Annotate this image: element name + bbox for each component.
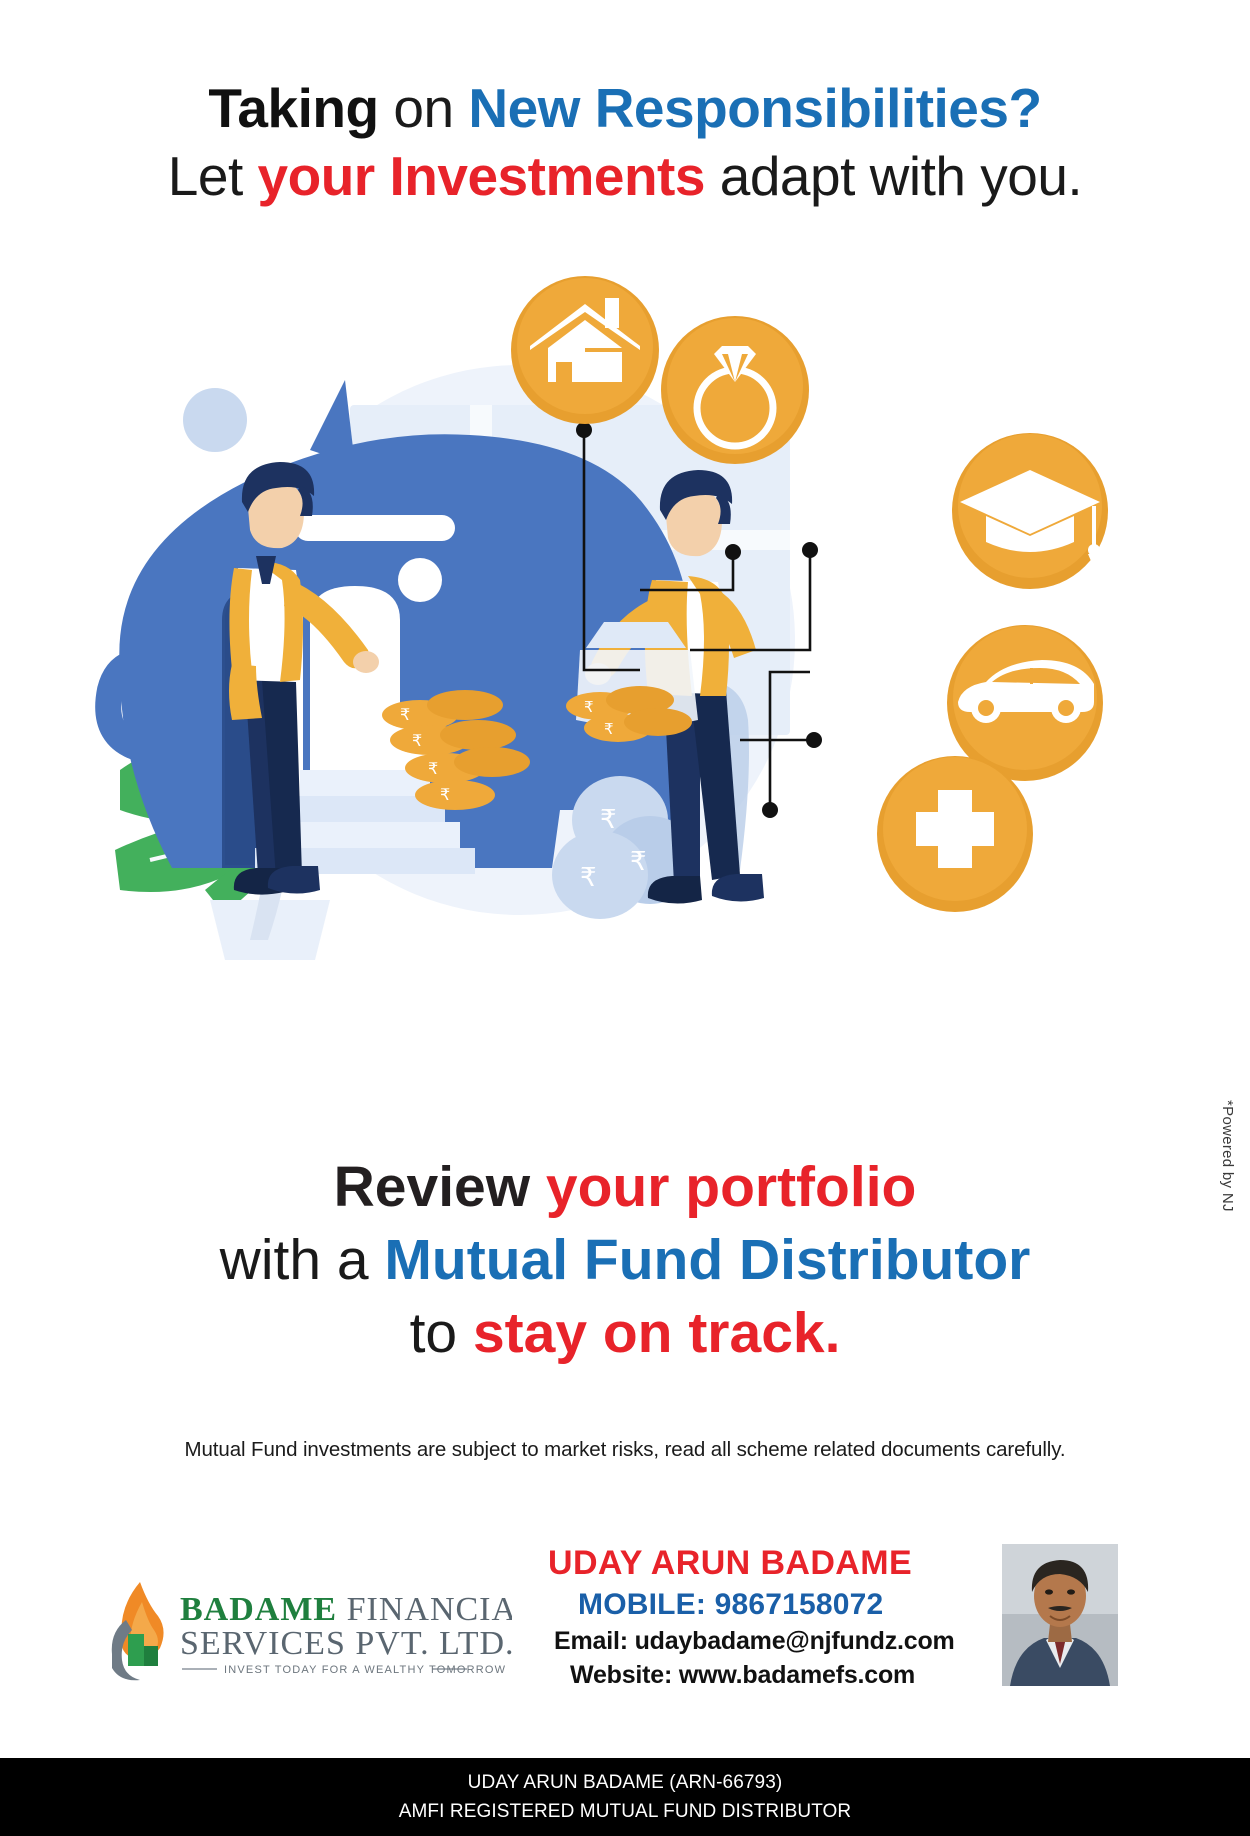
- logo-tagline: INVEST TODAY FOR A WEALTHY TOMORROW: [224, 1664, 506, 1676]
- amfi-arn-line: UDAY ARUN BADAME (ARN-66793): [0, 1769, 1250, 1798]
- subhead-line-2: with a Mutual Fund Distributor: [0, 1228, 1250, 1293]
- logo-word-badame: BADAME: [180, 1591, 337, 1628]
- subhead-l1-highlight: your portfolio: [546, 1155, 916, 1219]
- headline-l1-highlight: New Responsibilities?: [468, 77, 1041, 139]
- advisor-name: UDAY ARUN BADAME: [548, 1544, 978, 1583]
- headline-l1-word-taking: Taking: [208, 77, 378, 139]
- coin-badge-house: [511, 276, 659, 424]
- headline-line-1: Taking on New Responsibilities?: [0, 78, 1250, 140]
- amfi-registration-bar: UDAY ARUN BADAME (ARN-66793) AMFI REGIST…: [0, 1758, 1250, 1836]
- coin-badge-ring: [661, 316, 809, 464]
- headline-l2-suffix: adapt with you.: [705, 145, 1082, 207]
- illustration-svg: ₹ ₹ ₹ ₹ ₹ ₹ ₹: [0, 250, 1250, 960]
- svg-text:₹: ₹: [630, 846, 647, 876]
- svg-text:₹: ₹: [580, 862, 597, 892]
- svg-text:₹: ₹: [400, 707, 410, 724]
- headline-l2-highlight: your Investments: [258, 145, 705, 207]
- svg-text:₹: ₹: [428, 761, 438, 778]
- risk-disclaimer: Mutual Fund investments are subject to m…: [0, 1438, 1250, 1462]
- logo-word-financial: FINANCIAL: [337, 1591, 512, 1628]
- subhead-l3-highlight: stay on track.: [473, 1301, 841, 1365]
- footer-contact-block: BADAME FINANCIAL SERVICES PVT. LTD. INVE…: [0, 1530, 1250, 1750]
- advisor-mobile[interactable]: MOBILE: 9867158072: [548, 1588, 978, 1622]
- coin-badge-education: [952, 433, 1108, 589]
- subhead-l3-prefix: to: [410, 1301, 473, 1365]
- headline-line-2: Let your Investments adapt with you.: [0, 146, 1250, 208]
- coin-badge-health: [877, 756, 1033, 912]
- subhead-l2-highlight: Mutual Fund Distributor: [384, 1228, 1030, 1292]
- logo-mark-icon: [112, 1582, 164, 1680]
- amfi-distributor-line: AMFI REGISTERED MUTUAL FUND DISTRIBUTOR: [0, 1798, 1250, 1827]
- subhead-line-3: to stay on track.: [0, 1301, 1250, 1366]
- subhead-l1-prefix: Review: [334, 1155, 546, 1219]
- svg-text:₹: ₹: [584, 699, 594, 716]
- subhead-line-1: Review your portfolio: [0, 1155, 1250, 1220]
- advisor-email[interactable]: Email: udaybadame@njfundz.com: [548, 1627, 978, 1656]
- advisor-website[interactable]: Website: www.badamefs.com: [548, 1661, 978, 1690]
- advisor-portrait: [1002, 1544, 1118, 1686]
- hero-illustration: ₹ ₹ ₹ ₹ ₹ ₹ ₹: [0, 250, 1250, 960]
- svg-text:₹: ₹: [600, 804, 617, 834]
- svg-text:₹: ₹: [604, 721, 614, 738]
- company-logo: BADAME FINANCIAL SERVICES PVT. LTD. INVE…: [92, 1568, 512, 1688]
- logo-line-2: SERVICES PVT. LTD.: [180, 1625, 512, 1662]
- svg-text:₹: ₹: [440, 787, 450, 804]
- svg-text:BADAME FINANCIAL: BADAME FINANCIAL: [180, 1591, 512, 1628]
- advisor-contact-details: UDAY ARUN BADAME MOBILE: 9867158072 Emai…: [548, 1544, 978, 1690]
- secondary-headline: Review your portfolio with a Mutual Fund…: [0, 1155, 1250, 1366]
- headline-l1-connector: on: [379, 77, 469, 139]
- page-headline: Taking on New Responsibilities? Let your…: [0, 78, 1250, 207]
- logo-svg: BADAME FINANCIAL SERVICES PVT. LTD. INVE…: [92, 1568, 512, 1693]
- headline-l2-prefix: Let: [168, 145, 258, 207]
- portrait-svg: [1002, 1544, 1118, 1686]
- svg-text:₹: ₹: [412, 733, 422, 750]
- subhead-l2-prefix: with a: [220, 1228, 385, 1292]
